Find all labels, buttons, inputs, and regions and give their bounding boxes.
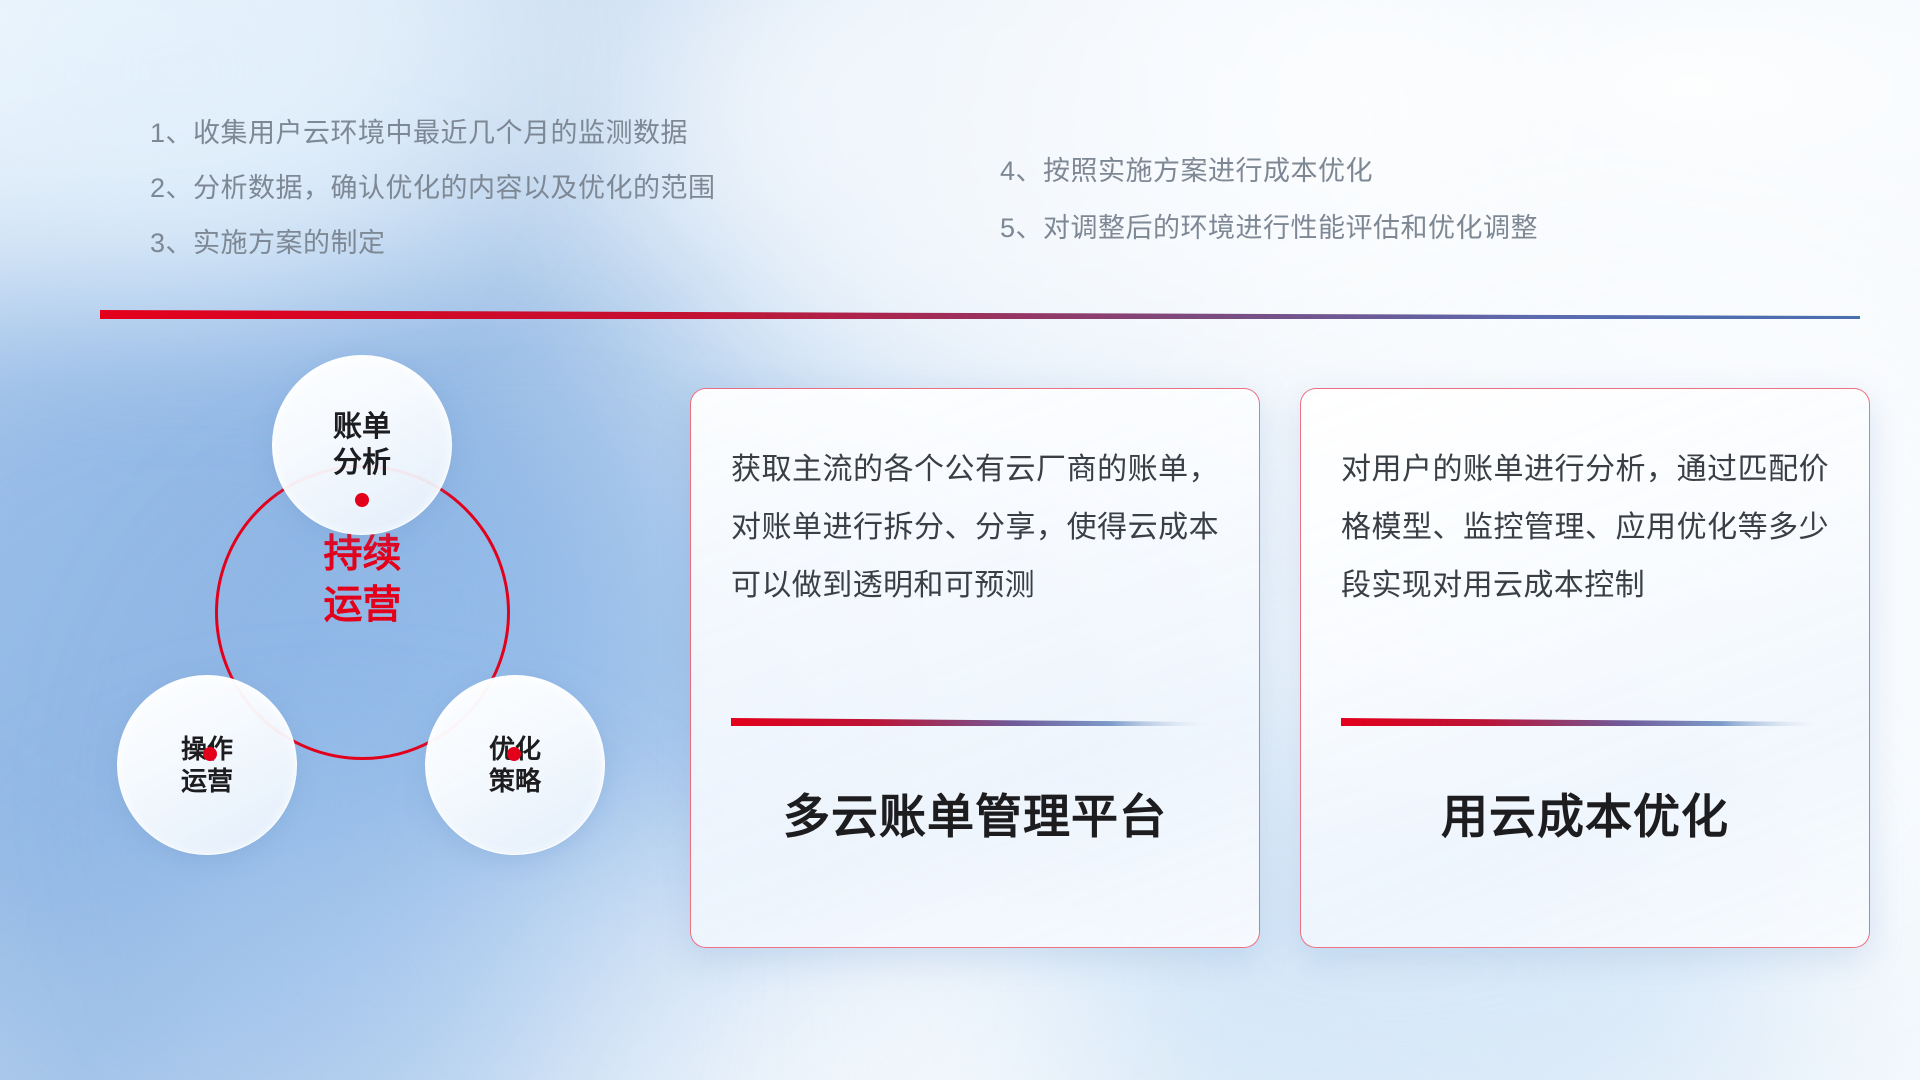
step-item-3: 3、实施方案的制定: [150, 230, 716, 257]
center-label-line2: 运营: [215, 581, 510, 632]
diagram-connector-dot-left: [203, 747, 217, 761]
card-title: 用云成本优化: [1341, 778, 1829, 847]
feature-card-multicloud-billing[interactable]: 获取主流的各个公有云厂商的账单，对账单进行拆分、分享，使得云成本可以做到透明和可…: [690, 388, 1260, 948]
feature-card-cloud-cost-optimization[interactable]: 对用户的账单进行分析，通过匹配价格模型、监控管理、应用优化等多少段实现对用云成本…: [1300, 388, 1870, 948]
step-item-4: 4、按照实施方案进行成本优化: [1000, 158, 1538, 185]
diagram-center-label: 持续 运营: [215, 530, 510, 631]
diagram-connector-dot-right: [507, 747, 521, 761]
diagram-node-operation[interactable]: 操作 运营: [117, 675, 297, 855]
card-title: 多云账单管理平台: [731, 778, 1219, 847]
card-divider: [1341, 717, 1829, 726]
card-divider: [731, 717, 1219, 726]
node-label-line2: 运营: [181, 765, 233, 798]
steps-list-left: 1、收集用户云环境中最近几个月的监测数据 2、分析数据，确认优化的内容以及优化的…: [150, 120, 716, 285]
diagram-node-optimization-strategy[interactable]: 优化 策略: [425, 675, 605, 855]
steps-list-right: 4、按照实施方案进行成本优化 5、对调整后的环境进行性能评估和优化调整: [1000, 158, 1538, 272]
center-label-line1: 持续: [215, 530, 510, 581]
continuous-operation-diagram: 持续 运营 账单 分析 操作 运营 优化 策略: [95, 355, 635, 935]
card-body-text: 对用户的账单进行分析，通过匹配价格模型、监控管理、应用优化等多少段实现对用云成本…: [1341, 441, 1829, 711]
header-divider: [100, 310, 1860, 319]
card-body-text: 获取主流的各个公有云厂商的账单，对账单进行拆分、分享，使得云成本可以做到透明和可…: [731, 441, 1219, 711]
step-item-5: 5、对调整后的环境进行性能评估和优化调整: [1000, 215, 1538, 242]
slide-canvas: 1、收集用户云环境中最近几个月的监测数据 2、分析数据，确认优化的内容以及优化的…: [0, 0, 1920, 1080]
node-label-line2: 策略: [489, 765, 541, 798]
step-item-1: 1、收集用户云环境中最近几个月的监测数据: [150, 120, 716, 147]
diagram-node-bill-analysis[interactable]: 账单 分析: [272, 355, 452, 535]
node-label-line1: 账单: [333, 409, 391, 445]
step-item-2: 2、分析数据，确认优化的内容以及优化的范围: [150, 175, 716, 202]
node-label-line2: 分析: [333, 445, 391, 481]
diagram-connector-dot-top: [355, 493, 369, 507]
